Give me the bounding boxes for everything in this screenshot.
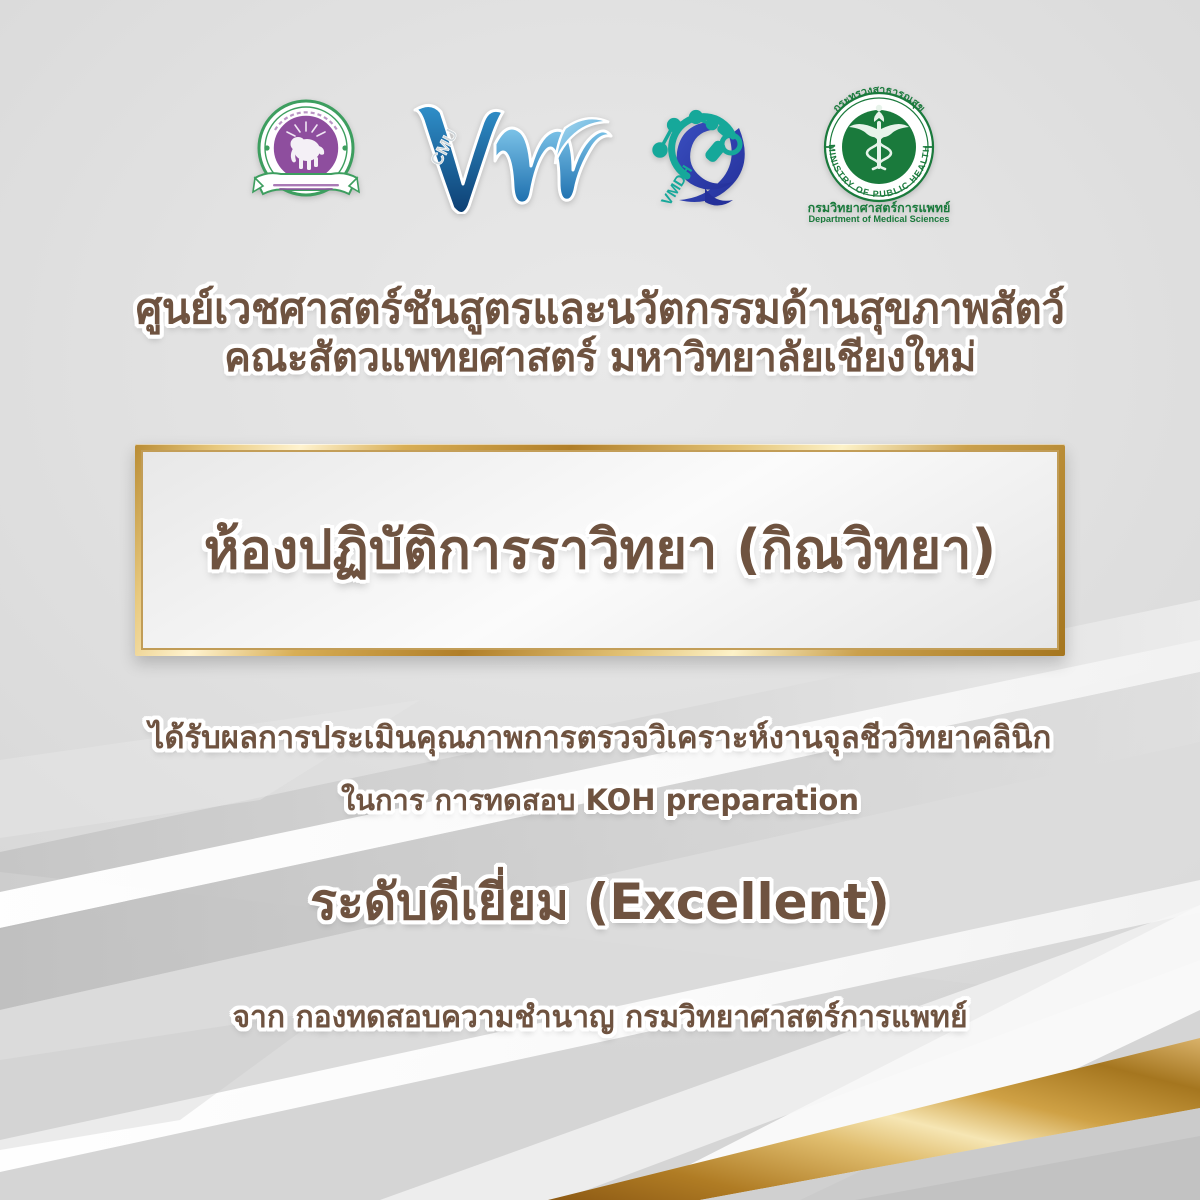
organization-heading: ศูนย์เวชศาสตร์ชันสูตรและนวัตกรรมด้านสุขภ… — [60, 283, 1140, 383]
lab-name: ห้องปฏิบัติการราวิทยา (กิณวิทยา) — [186, 520, 1014, 579]
svg-text:กรมวิทยาศาสตร์การแพทย์: กรมวิทยาศาสตร์การแพทย์ — [808, 200, 951, 215]
vmdh-logo-icon: VMDH — [647, 92, 773, 214]
lab-name-frame: ห้องปฏิบัติการราวิทยา (กิณวิทยา) — [135, 444, 1065, 656]
award-body-line-1: ได้รับผลการประเมินคุณภาพการตรวจวิเคราะห์… — [60, 714, 1140, 762]
svg-text:VMDH: VMDH — [658, 162, 696, 208]
certificate-poster: CMU — [0, 0, 1200, 1200]
heading-line-2: คณะสัตวแพทยศาสตร์ มหาวิทยาลัยเชียงใหม่ — [60, 334, 1140, 383]
lab-name-frame-inner: ห้องปฏิบัติการราวิทยา (กิณวิทยา) — [141, 450, 1059, 650]
cmu-vet-faculty-seal-icon — [245, 92, 367, 214]
issuer-line: จาก กองทดสอบความชำนาญ กรมวิทยาศาสตร์การแ… — [60, 1000, 1140, 1037]
cmu-vm-wordmark-icon: CMU — [397, 92, 617, 214]
ministry-of-public-health-seal-icon: กระทรวงสาธารณสุข MINISTRY OF PUBLIC HEAL… — [803, 83, 955, 223]
award-body-text: ได้รับผลการประเมินคุณภาพการตรวจวิเคราะห์… — [60, 714, 1140, 823]
grade-level: ระดับดีเยี่ยม (Excellent) — [60, 872, 1140, 933]
logo-row: CMU — [0, 78, 1200, 228]
heading-line-1: ศูนย์เวชศาสตร์ชันสูตรและนวัตกรรมด้านสุขภ… — [60, 283, 1140, 334]
award-body-line-2: ในการ การทดสอบ KOH preparation — [60, 778, 1140, 823]
svg-text:Department of Medical Sciences: Department of Medical Sciences — [809, 214, 950, 223]
